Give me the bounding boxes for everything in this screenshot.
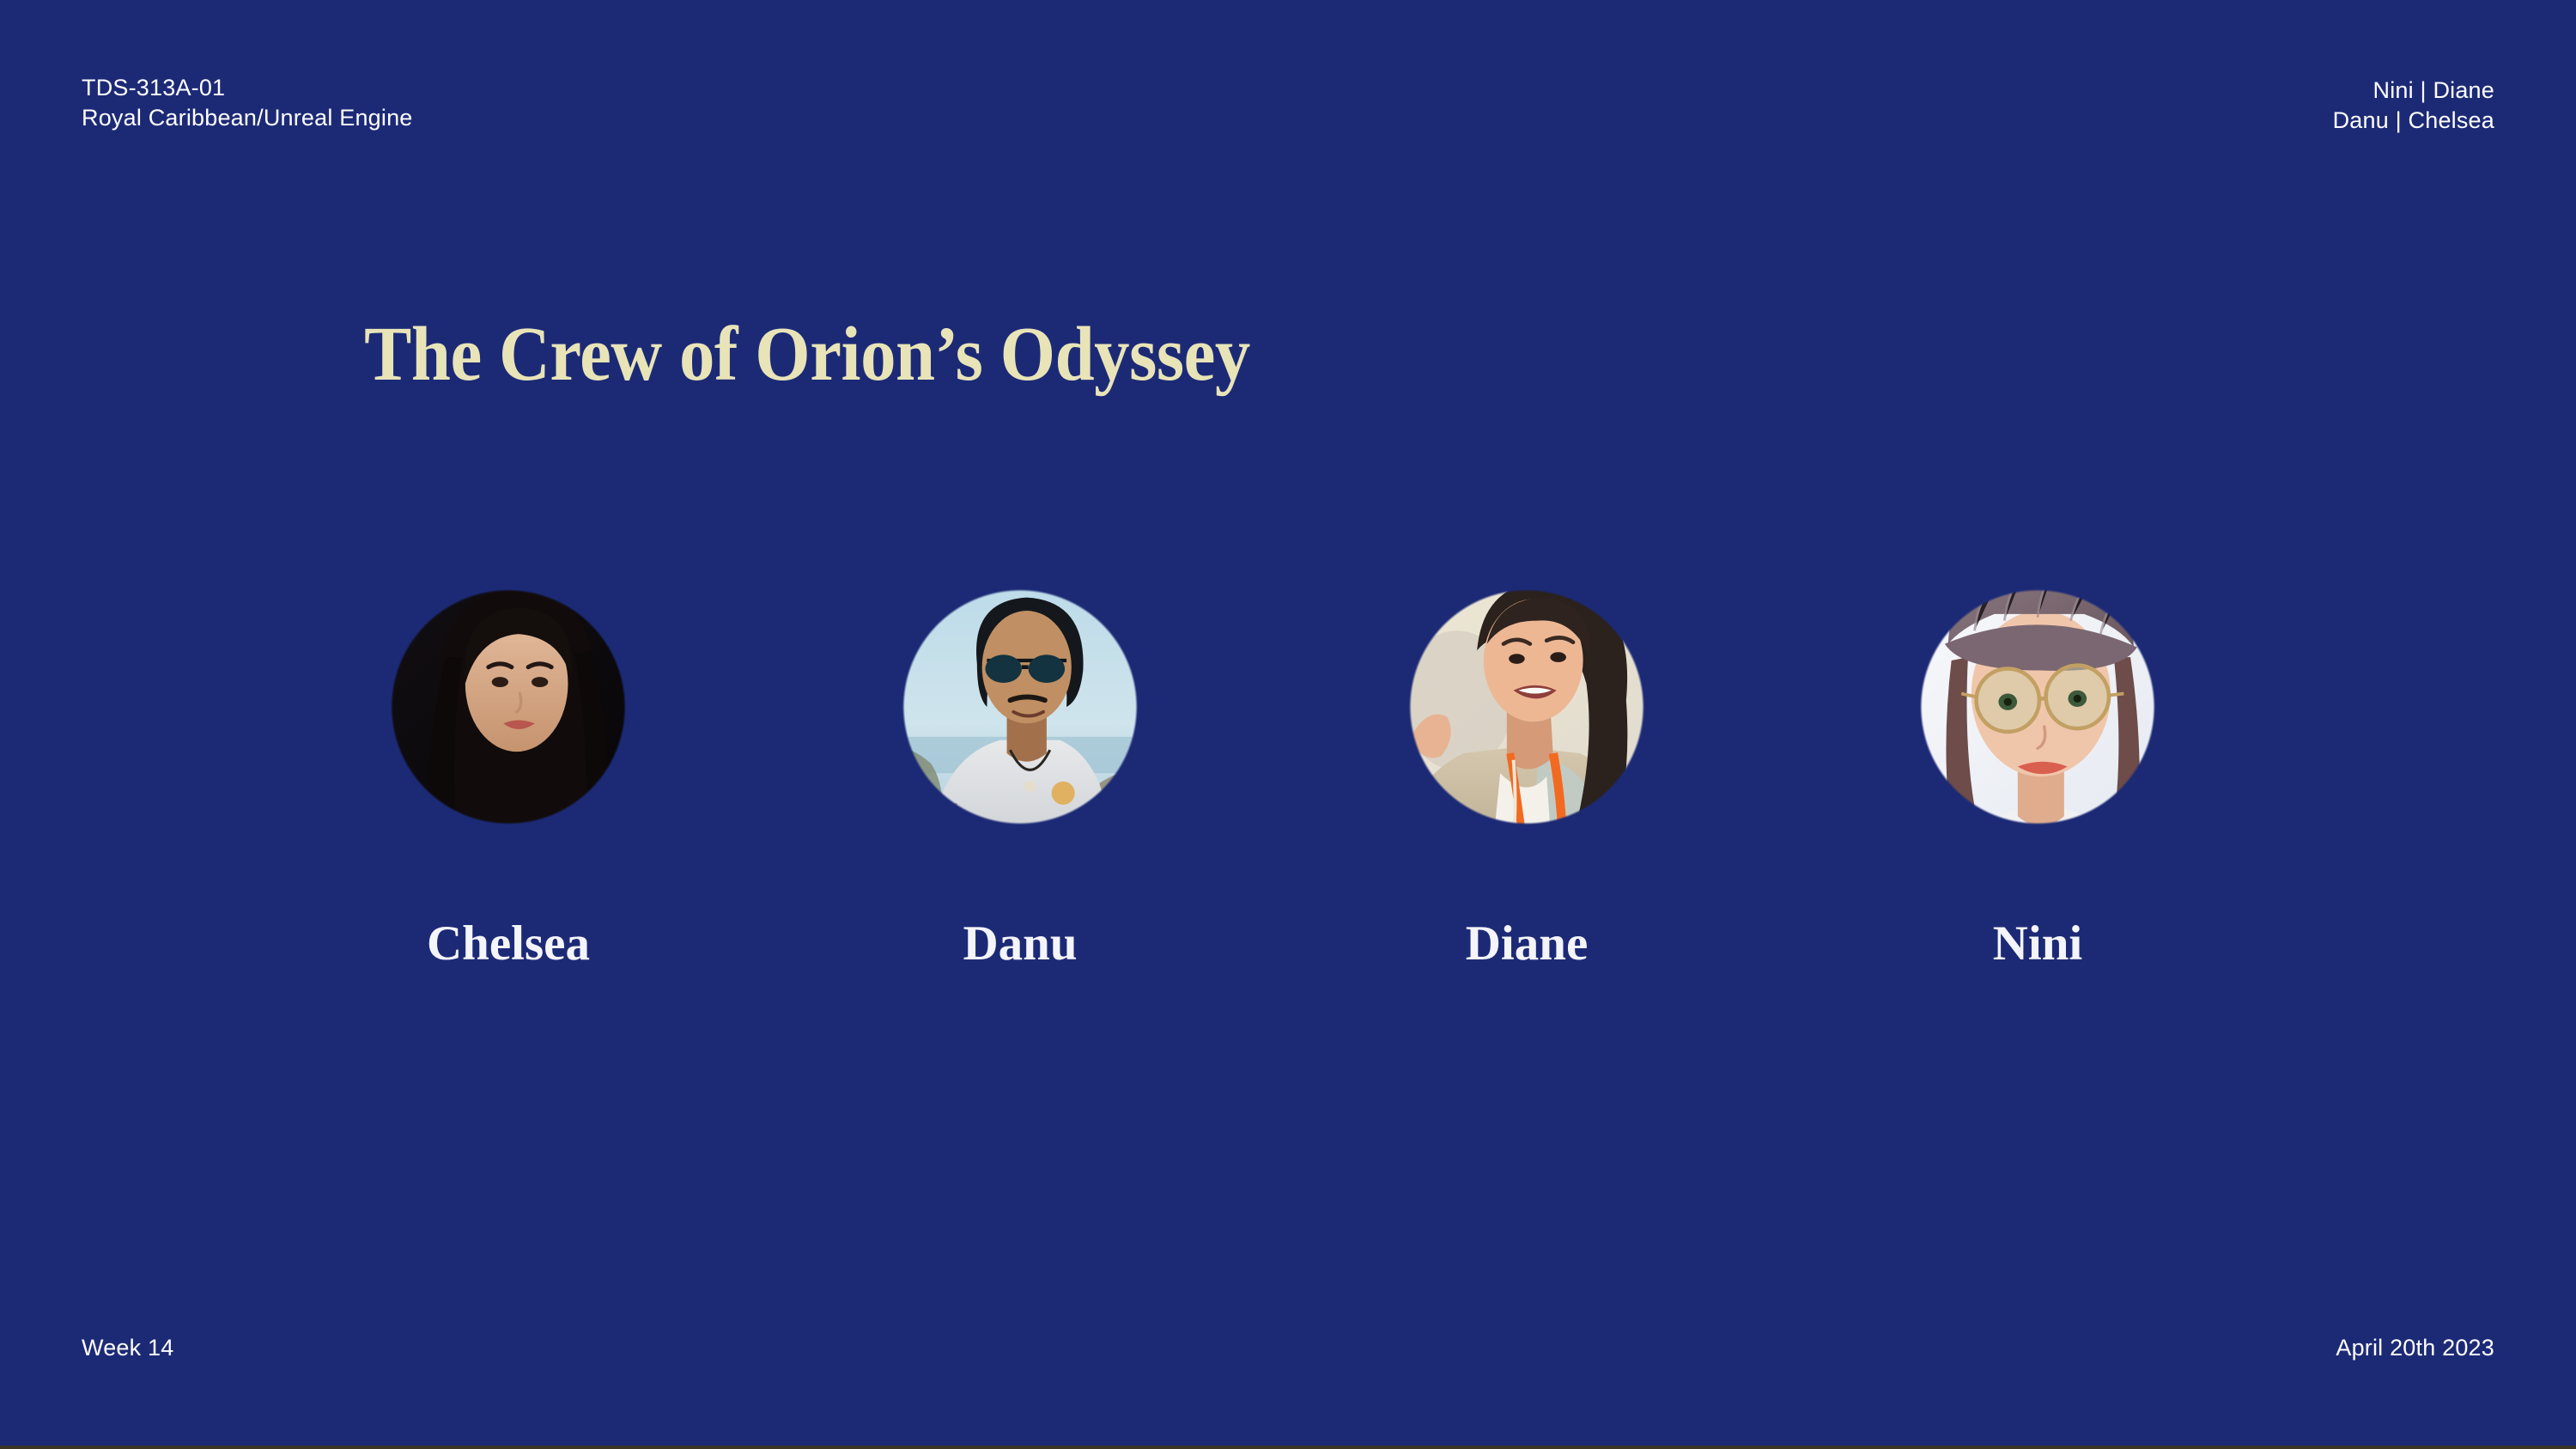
crew-member-chelsea[interactable]: Chelsea: [341, 541, 676, 968]
portrait-diane-icon: [1361, 541, 1692, 873]
avatar-image-clip: [1361, 541, 1692, 873]
bottom-divider: [0, 1446, 2576, 1449]
crew-name-label: Diane: [1359, 919, 1694, 968]
project-name: Royal Caribbean/Unreal Engine: [82, 103, 413, 133]
crew-member-nini[interactable]: Nini: [1870, 541, 2205, 968]
crew-name-label: Danu: [853, 919, 1188, 968]
slide-date-label: April 20th 2023: [2336, 1333, 2494, 1363]
avatar-diane: [1361, 541, 1692, 873]
slide-meta-top-left: TDS-313A-01 Royal Caribbean/Unreal Engin…: [82, 73, 413, 133]
avatar-image-clip: [854, 541, 1186, 873]
slide-meta-top-right: Nini | Diane Danu | Chelsea: [2333, 76, 2494, 136]
crew-name-label: Nini: [1870, 919, 2205, 968]
team-names-line-1: Nini | Diane: [2333, 76, 2494, 106]
week-text: Week 14: [82, 1333, 173, 1363]
crew-member-danu[interactable]: Danu: [853, 541, 1188, 968]
crew-name-label: Chelsea: [341, 919, 676, 968]
slide-title: The Crew of Orion’s Odyssey: [64, 316, 1550, 393]
avatar-chelsea: [343, 541, 674, 873]
crew-row: Chelsea: [0, 541, 2576, 1022]
portrait-danu-icon: [854, 541, 1186, 873]
portrait-nini-icon: [1872, 541, 2203, 873]
presentation-slide: TDS-313A-01 Royal Caribbean/Unreal Engin…: [0, 0, 2576, 1449]
slide-week-label: Week 14: [82, 1333, 173, 1363]
portrait-chelsea-icon: [343, 541, 674, 873]
crew-member-diane[interactable]: Diane: [1359, 541, 1694, 968]
avatar-image-clip: [1872, 541, 2203, 873]
course-code: TDS-313A-01: [82, 73, 413, 103]
avatar-danu: [854, 541, 1186, 873]
date-text: April 20th 2023: [2336, 1333, 2494, 1363]
team-names-line-2: Danu | Chelsea: [2333, 106, 2494, 136]
avatar-nini: [1872, 541, 2203, 873]
avatar-image-clip: [343, 541, 674, 873]
